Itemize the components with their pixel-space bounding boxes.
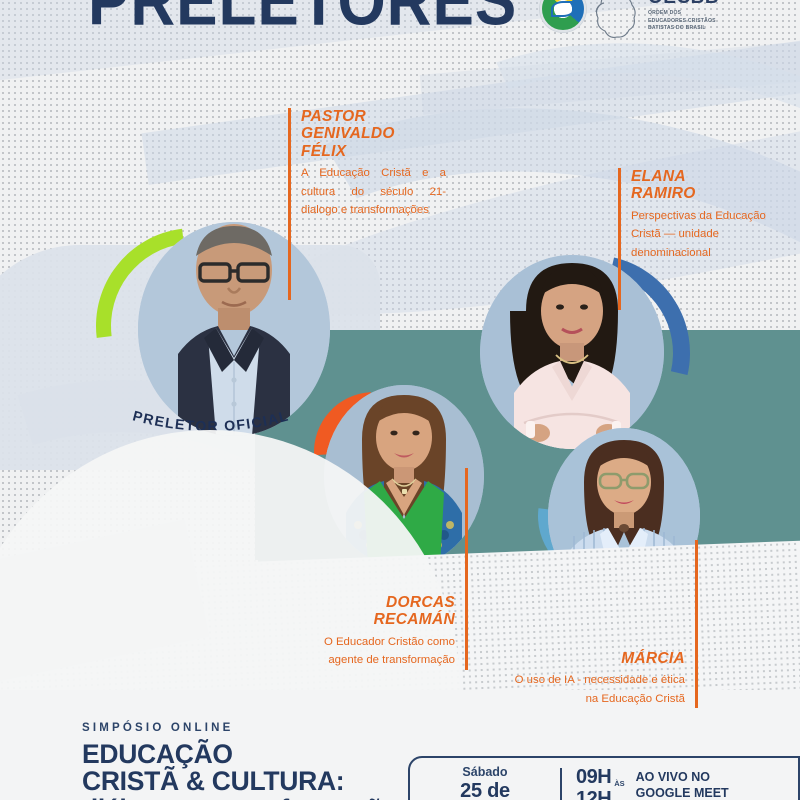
event-platform: AO VIVO NO GOOGLE MEET [628,766,729,800]
event-time-separator: ÀS [614,766,624,788]
speaker-photo-elana [480,255,664,449]
speaker-name-marcia: MÁRCIA [508,650,685,667]
event-time-group: 09H 12H ÀS AO VIVO NO GOOGLE MEET [562,766,729,800]
event-title-line3: diálogos e transformação [82,796,397,800]
speaker-name-line: MÁRCIA [508,650,685,667]
speaker-name-dorcas: DORCAS RECAMÁN [318,594,455,629]
logo-acronym: OECBB [648,0,719,7]
speaker-topic-marcia: O uso de IA - necessidade e ética na Edu… [508,671,685,708]
connector-rule-elana [618,240,621,310]
event-kicker: SIMPÓSIO ONLINE [82,722,397,734]
event-info-box: Sábado 25 de outubro 09H 12H ÀS AO VIVO … [408,756,800,800]
event-time-stack: 09H 12H [576,766,611,800]
page-title: PRELETORES [88,0,517,41]
speaker-block-marcia: MÁRCIA O uso de IA - necessidade e ética… [508,650,698,708]
event-title-line2: CRISTÃ & CULTURA: [82,768,397,795]
speaker-topic-dorcas: O Educador Cristão como agente de transf… [318,633,455,670]
logo-subtitle-line3: BATISTAS DO BRASIL [648,25,719,33]
speaker-topic-elana: Perspectivas da Educação Cristã — unidad… [631,207,790,262]
connector-rule-genivaldo [288,200,291,300]
speaker-name-line: DORCAS [318,594,455,611]
speaker-photo-genivaldo [138,222,330,436]
event-date-group: Sábado 25 de outubro [410,766,560,800]
logo-subtitle-line2: EDUCADORES CRISTÃOS [648,18,719,26]
connector-rule-marcia [695,540,698,652]
connector-rule-dorcas [465,468,468,596]
event-time-end: 12H [576,788,611,800]
speaker-name-line: RAMIRO [631,185,790,202]
speaker-name-genivaldo: PASTOR GENIVALDO FÉLIX [301,108,446,160]
event-title-line1: EDUCAÇÃO [82,741,397,768]
speaker-name-line: ELANA [631,168,790,185]
speaker-topic-genivaldo: A Educação Cristã e a cultura do século … [301,164,446,219]
event-time-start: 09H [576,766,611,788]
speaker-block-elana: ELANA RAMIRO Perspectivas da Educação Cr… [618,168,790,262]
speaker-name-line: FÉLIX [301,143,446,160]
speaker-block-genivaldo: PASTOR GENIVALDO FÉLIX A Educação Cristã… [288,108,446,219]
logo-text-block: OECBB ORDEM DOS EDUCADORES CRISTÃOS BATI… [648,0,719,33]
event-title: EDUCAÇÃO CRISTÃ & CULTURA: diálogos e tr… [82,741,397,800]
event-date: 25 de outubro [424,780,546,800]
oecbb-logo: OECBB ORDEM DOS EDUCADORES CRISTÃOS BATI… [540,0,719,39]
footer-title-block: SIMPÓSIO ONLINE EDUCAÇÃO CRISTÃ & CULTUR… [82,722,397,800]
event-platform-line2: GOOGLE MEET [636,785,729,800]
event-platform-line1: AO VIVO NO [636,769,729,785]
speaker-block-dorcas: DORCAS RECAMÁN O Educador Cristão como a… [318,594,468,670]
speaker-name-line: RECAMÁN [318,611,455,628]
speaker-name-line: GENIVALDO [301,125,446,142]
speaker-name-line: PASTOR [301,108,446,125]
brazil-map-icon [592,0,642,39]
logo-subtitle: ORDEM DOS EDUCADORES CRISTÃOS BATISTAS D… [648,10,719,33]
brazil-seal-icon [540,0,586,32]
poster-canvas: PRELETOR OFICIAL [0,0,800,800]
logo-subtitle-line1: ORDEM DOS [648,10,719,18]
speaker-name-elana: ELANA RAMIRO [631,168,790,203]
event-weekday: Sábado [424,766,546,780]
